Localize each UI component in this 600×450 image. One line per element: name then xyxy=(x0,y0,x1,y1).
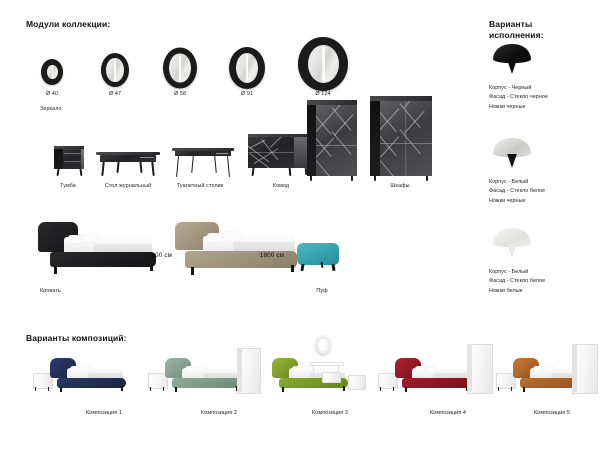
bed-leg xyxy=(150,264,153,271)
modules-section-title: Модули коллекции: xyxy=(26,19,110,30)
mirrors-group-label: Зеркало xyxy=(40,106,62,112)
mirror-glass xyxy=(308,45,339,84)
variant-legs-2: Ножки черные xyxy=(489,198,526,204)
bed-leg xyxy=(60,387,62,392)
mirror-47[interactable] xyxy=(101,53,129,87)
mirror-40[interactable] xyxy=(41,59,63,85)
variant-description-2: Корпус - БелыйФасад - Стекло белоеНожки … xyxy=(489,178,545,206)
bed-size-1600: 1600 см xyxy=(148,252,172,259)
variant-legs-1: Ножки черные xyxy=(489,104,526,110)
bed-pillow xyxy=(425,366,436,372)
vanity-leg xyxy=(214,156,217,173)
wardrobe-glass-door xyxy=(380,101,432,176)
coffee-table-leg xyxy=(116,162,119,173)
vanity-drawer xyxy=(175,151,231,156)
mirror-124[interactable] xyxy=(298,37,348,91)
composition-label-3: Композиция 3 xyxy=(312,410,348,416)
composition-stool xyxy=(322,372,341,383)
bed-base xyxy=(402,378,471,388)
variant-stem-icon xyxy=(507,154,517,168)
pouf-leg xyxy=(300,264,304,271)
catalog-page: Модули коллекции: Варианты исполнения: В… xyxy=(0,0,600,450)
composition-wardrobe-side xyxy=(467,344,472,392)
bed-leg xyxy=(121,386,123,391)
composition-bed xyxy=(165,358,243,396)
coffee-table-leg xyxy=(151,162,154,176)
coffee-table-leg xyxy=(139,162,142,173)
mirror-label-124: Ø 124 xyxy=(315,91,330,97)
mirror-glass xyxy=(47,65,58,80)
bed-leg xyxy=(191,267,194,275)
bed-leg xyxy=(523,387,525,392)
bed-base xyxy=(172,378,241,388)
nightstand-carcass xyxy=(54,149,63,169)
dresser-module[interactable] xyxy=(248,134,310,179)
compositions-section-title: Варианты композиций: xyxy=(26,333,127,344)
nightstand-leg xyxy=(57,169,60,176)
mirror-91[interactable] xyxy=(229,47,265,89)
mirror-58[interactable] xyxy=(163,48,197,89)
pouf-seat xyxy=(297,243,339,265)
bed-label-krovat: Кровать xyxy=(40,288,61,294)
coffee-table-module[interactable] xyxy=(96,152,160,180)
mirror-glass xyxy=(236,53,258,83)
nightstand-leg xyxy=(80,169,83,176)
bed-leg xyxy=(405,387,407,392)
bed-leg xyxy=(282,387,284,392)
bed-pillow xyxy=(82,234,98,242)
nightstand-drawers xyxy=(63,149,84,169)
composition-bed xyxy=(395,358,473,396)
dresser-front xyxy=(248,137,294,168)
wardrobe-module-large[interactable] xyxy=(370,96,432,184)
composition-label-4: Композиция 4 xyxy=(430,410,466,416)
wardrobe-side xyxy=(370,100,380,176)
mirror-label-47: Ø 47 xyxy=(109,91,121,97)
vanity-leg xyxy=(191,156,194,173)
wardrobe-glass-door xyxy=(316,105,357,176)
variant-stem-icon xyxy=(507,244,517,258)
coffee-table-leg xyxy=(101,162,104,176)
pouf-label: Пуф xyxy=(316,288,327,294)
composition-label-5: Композиция 5 xyxy=(534,410,570,416)
variant-legs-3: Ножки белые xyxy=(489,288,523,294)
mirror-glass xyxy=(318,338,327,352)
bed-pillow xyxy=(195,366,206,372)
bed-base xyxy=(57,378,126,388)
furniture-label-dresser: Комод xyxy=(273,183,289,189)
wardrobe-leg xyxy=(426,176,428,181)
composition-vanity-leg xyxy=(313,364,314,377)
dresser-leg xyxy=(289,168,291,176)
composition-label-1: Композиция 1 xyxy=(86,410,122,416)
bed-leg xyxy=(54,266,57,274)
wardrobe-leg xyxy=(374,176,376,181)
wardrobe-module-small[interactable] xyxy=(307,100,357,182)
composition-nightstand xyxy=(348,375,366,390)
furniture-label-wardrobes: Шкафы xyxy=(390,183,409,189)
variant-body-2: Корпус - Белый xyxy=(489,179,528,185)
bed-pillow xyxy=(207,233,224,242)
variant-body-3: Корпус - Белый xyxy=(489,269,528,275)
furniture-label-vanity: Туалетный столик xyxy=(177,183,224,189)
bed-leg xyxy=(291,265,294,272)
bed-pillow xyxy=(80,366,91,372)
bed-size-1800: 1800 см xyxy=(260,252,284,259)
wardrobe-leg xyxy=(351,176,353,181)
variant-description-3: Корпус - БелыйФасад - Стекло белоеНожки … xyxy=(489,268,545,296)
vanity-leg xyxy=(227,156,230,177)
wardrobe-lattice-pattern xyxy=(380,101,432,176)
wardrobe-leg xyxy=(310,176,312,181)
variant-facade-1: Фасад - Стекло черное xyxy=(489,94,548,100)
bed-pillow xyxy=(543,366,554,372)
variants-section-title: Варианты исполнения: xyxy=(489,19,544,40)
pouf-module[interactable] xyxy=(297,243,339,276)
coffee-table-apron xyxy=(100,155,156,162)
dresser-leg xyxy=(252,168,255,176)
nightstand-module[interactable] xyxy=(52,146,86,178)
bed-leg xyxy=(343,386,345,391)
furniture-label-nightstand: Тумба xyxy=(60,183,76,189)
variant-stem-icon xyxy=(507,60,517,74)
composition-mirror xyxy=(316,336,331,355)
wardrobe-lattice-pattern xyxy=(316,105,357,176)
vanity-leg xyxy=(176,156,179,177)
wardrobe-side xyxy=(307,104,316,176)
composition-bed xyxy=(50,358,128,396)
bed-pillow xyxy=(223,232,240,241)
bed-base xyxy=(50,252,156,267)
composition-wardrobe-side xyxy=(237,348,242,392)
vanity-table-module[interactable] xyxy=(172,148,234,180)
variant-facade-2: Фасад - Стекло белое xyxy=(489,188,545,194)
bed-module-1600[interactable] xyxy=(38,222,164,280)
mirror-label-40: Ø 40 xyxy=(46,91,58,97)
bed-module-1800[interactable] xyxy=(175,218,305,280)
mirror-glass xyxy=(169,53,190,83)
bed-pillow xyxy=(302,366,313,372)
composition-wardrobe-side xyxy=(572,344,577,392)
furniture-label-coffee-table: Стол журнальный xyxy=(105,183,151,189)
mirror-label-91: Ø 91 xyxy=(241,91,253,97)
variant-body-1: Корпус - Черный xyxy=(489,85,531,91)
variant-description-1: Корпус - ЧерныйФасад - Стекло черноеНожк… xyxy=(489,84,548,112)
bed-leg xyxy=(175,387,177,392)
variant-facade-3: Фасад - Стекло белое xyxy=(489,278,545,284)
mirror-label-58: Ø 58 xyxy=(174,91,186,97)
mirror-glass xyxy=(106,58,123,82)
composition-label-2: Композиция 2 xyxy=(201,410,237,416)
